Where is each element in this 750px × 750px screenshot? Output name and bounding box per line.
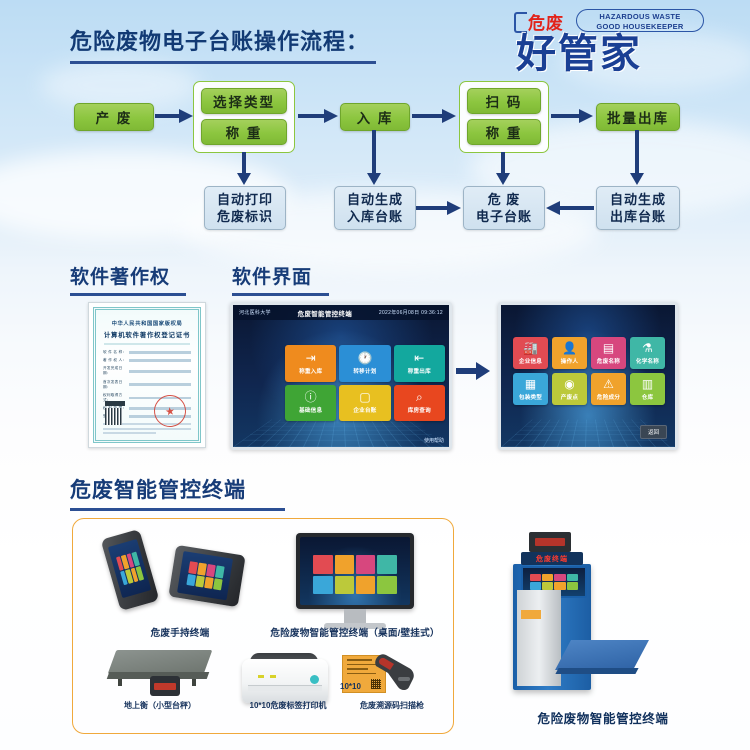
plate-top <box>555 640 649 670</box>
flow-arrow-down <box>367 130 381 185</box>
section-heading-terminal: 危废智能管控终端 <box>70 474 285 511</box>
tile-label: 危废名称 <box>597 357 620 365</box>
kiosk-terminal-device: 危废终端 <box>495 528 615 698</box>
kiosk-indicator-display <box>535 538 565 546</box>
flow-arrow-down <box>630 130 644 185</box>
logo-red-text: 危废 <box>528 9 564 34</box>
flow-node-weigh-2[interactable]: 称 重 <box>467 119 541 145</box>
certificate-field-row: 首次发表日期： <box>103 380 191 390</box>
logo-top-row: 危废 HAZARDOUS WASTE GOOD HOUSEKEEPER <box>506 8 706 34</box>
caption-scale: 地上衡（小型台秤） <box>104 700 216 711</box>
barcode-scanner-icon <box>372 651 426 691</box>
tile-label: 企业台账 <box>353 406 376 414</box>
scale-platform <box>108 650 213 674</box>
tablet-screen <box>177 551 233 600</box>
scale-body <box>106 650 214 694</box>
divider <box>104 343 190 345</box>
monitor-tile-grid <box>313 555 397 594</box>
logo-main-text: 好管家 <box>516 32 642 76</box>
flow-node-scan-code[interactable]: 扫 码 <box>467 88 541 114</box>
certificate-field-row: 著 作 权 人： <box>103 358 191 363</box>
caption-scanner: 危废溯源码扫描枪 <box>340 700 444 711</box>
screen-main-tile-grid: ⇥称重入库 🕐转移计划 ⇤称重出库 ⓘ基础信息 ▢企业台账 ⌕库房查询 <box>285 345 445 421</box>
flow-node-auto-print-line2: 危废标识 <box>217 208 273 225</box>
floor-scale-device <box>106 650 214 694</box>
bracket-icon <box>514 12 527 33</box>
certificate-field-row: 开发完成日期： <box>103 366 191 376</box>
tile-label: 包装类型 <box>519 393 542 401</box>
logo-en-line2: GOOD HOUSEKEEPER <box>577 22 703 32</box>
printer-power-button[interactable] <box>310 675 319 684</box>
box-icon: ▦ <box>525 378 536 391</box>
screen-org-name: 河北医科大学 <box>239 309 271 316</box>
tile-label: 库房查询 <box>408 406 431 414</box>
section-heading-copyright-text: 软件著作权 <box>70 267 170 288</box>
section-underline <box>70 508 285 511</box>
flow-node-auto-in-ledger-line2: 入库台账 <box>347 208 403 225</box>
tile-enterprise-ledger[interactable]: ▢企业台账 <box>339 385 390 422</box>
printer-led <box>258 675 264 678</box>
printer-paper-slot <box>248 685 322 691</box>
kiosk-indicator-head <box>529 532 571 552</box>
flow-node-auto-in-ledger[interactable]: 自动生成 入库台账 <box>334 186 416 230</box>
flow-node-produce[interactable]: 产 废 <box>74 103 154 131</box>
flow-arrow-right <box>155 108 193 124</box>
field-label: 开发完成日期： <box>103 366 129 376</box>
certificate-inner: 中华人民共和国国家版权局 计算机软件著作权登记证书 软 件 名 称： 著 作 权… <box>93 307 201 443</box>
kiosk-print-tray <box>521 610 541 619</box>
field-value <box>129 383 191 385</box>
software-screen-secondary[interactable]: 🏭企业信息 👤操作人 ▤危废名称 ⚗化学名称 ▦包装类型 ◉产废点 ⚠危险成分 … <box>498 302 678 450</box>
tablet-body <box>168 545 245 607</box>
printer-led <box>270 675 276 678</box>
screen-secondary-tile-grid: 🏭企业信息 👤操作人 ▤危废名称 ⚗化学名称 ▦包装类型 ◉产废点 ⚠危险成分 … <box>513 337 665 405</box>
scale-indicator <box>150 676 180 696</box>
search-icon: ⌕ <box>416 391 423 404</box>
printer-body-group <box>242 645 328 705</box>
caption-handheld: 危废手持终端 <box>120 625 240 639</box>
tile-waste-point[interactable]: ◉产废点 <box>552 373 587 405</box>
tile-label: 企业信息 <box>519 357 542 365</box>
handheld-pda-device <box>110 533 150 607</box>
flow-arrow-right <box>298 108 338 124</box>
caption-kiosk: 危险废物智能管控终端 <box>488 708 718 727</box>
handheld-tablet-device <box>172 550 242 602</box>
tile-warehouse[interactable]: ▥仓库 <box>630 373 665 405</box>
flow-node-auto-out-ledger-line2: 出库台账 <box>610 208 666 225</box>
tile-chemical-name[interactable]: ⚗化学名称 <box>630 337 665 369</box>
flow-node-auto-print[interactable]: 自动打印 危废标识 <box>204 186 286 230</box>
clock-icon: 🕐 <box>358 352 373 365</box>
warehouse-icon: ▥ <box>642 378 653 391</box>
barcode-icon <box>105 401 125 406</box>
scale-leg <box>192 679 196 686</box>
tile-basic-info[interactable]: ⓘ基础信息 <box>285 385 336 422</box>
pda-screen <box>108 539 151 598</box>
card-icon: ▤ <box>603 342 614 355</box>
kiosk-led-sign: 危废终端 <box>521 552 583 565</box>
flow-node-storage-in[interactable]: 入 库 <box>340 103 410 131</box>
tile-waste-name[interactable]: ▤危废名称 <box>591 337 626 369</box>
warning-icon: ⚠ <box>603 378 614 391</box>
flow-node-auto-out-ledger-line1: 自动生成 <box>610 191 666 208</box>
back-button[interactable]: 返回 <box>640 425 667 439</box>
kiosk-weighing-plate <box>563 640 649 686</box>
flow-node-e-ledger-line1: 危 废 <box>488 191 521 208</box>
field-value <box>129 370 191 372</box>
flow-node-batch-out[interactable]: 批量出库 <box>596 103 680 131</box>
certificate-title-line1: 中华人民共和国国家版权局 <box>96 319 198 327</box>
flow-arrow-down <box>237 152 251 185</box>
tile-weigh-in[interactable]: ⇥称重入库 <box>285 345 336 382</box>
tile-operator[interactable]: 👤操作人 <box>552 337 587 369</box>
tile-label: 操作人 <box>561 357 578 365</box>
tile-label: 化学名称 <box>636 357 659 365</box>
flow-arrow-left <box>546 200 594 216</box>
field-value <box>129 351 191 353</box>
field-label: 首次发表日期： <box>103 380 129 390</box>
process-flow-diagram: 产 废 选择类型 称 重 入 库 扫 码 称 重 批量出库 自动打印 危废标识 … <box>0 78 750 243</box>
flow-arrow-right <box>416 200 461 216</box>
section-heading-copyright: 软件著作权 <box>70 262 186 296</box>
section-heading-software-ui: 软件界面 <box>232 262 329 296</box>
tile-label: 仓库 <box>642 393 654 401</box>
monitor-frame <box>296 533 414 609</box>
qr-code-icon <box>105 408 122 425</box>
tile-hazard-component[interactable]: ⚠危险成分 <box>591 373 626 405</box>
section-underline <box>70 293 186 296</box>
certificate-field-row: 软 件 名 称： <box>103 350 191 355</box>
flow-node-e-ledger[interactable]: 危 废 电子台账 <box>463 186 545 230</box>
inbound-icon: ⇥ <box>306 352 316 365</box>
tile-transfer-plan[interactable]: 🕐转移计划 <box>339 345 390 382</box>
tile-package-type[interactable]: ▦包装类型 <box>513 373 548 405</box>
factory-icon: 🏭 <box>523 342 538 355</box>
kiosk-tile-grid <box>530 574 578 591</box>
indicator-display <box>154 683 176 690</box>
logo-english-badge: HAZARDOUS WASTE GOOD HOUSEKEEPER <box>576 9 704 32</box>
software-copyright-certificate[interactable]: 中华人民共和国国家版权局 计算机软件著作权登记证书 软 件 名 称： 著 作 权… <box>88 302 206 448</box>
logo-en-line1: HAZARDOUS WASTE <box>577 12 703 22</box>
field-label: 著 作 权 人： <box>103 358 129 363</box>
field-label: 软 件 名 称： <box>103 350 129 355</box>
pda-tile-grid <box>115 552 143 586</box>
ledger-icon: ▢ <box>359 391 370 404</box>
desktop-monitor-device <box>296 533 414 629</box>
label-printer-device <box>242 645 328 705</box>
screen-top-bar: 河北医科大学 危废智能管控终端 2022年06月08日 09:36:12 <box>233 305 449 320</box>
tile-warehouse-query[interactable]: ⌕库房查询 <box>394 385 445 422</box>
caption-printer: 10*10危废标签打印机 <box>230 700 346 711</box>
flow-node-e-ledger-line2: 电子台账 <box>476 208 532 225</box>
tile-label: 产废点 <box>561 393 578 401</box>
tile-label: 危险成分 <box>597 393 620 401</box>
person-icon: 👤 <box>562 342 577 355</box>
tile-label: 称重出库 <box>408 367 431 375</box>
monitor-screen <box>300 537 410 605</box>
caption-monitor: 危险废物智能管控终端（桌面/壁挂式） <box>252 625 458 639</box>
section-underline <box>232 293 329 296</box>
outbound-icon: ⇤ <box>414 352 424 365</box>
label-size-text: 10*10 <box>340 682 380 691</box>
section-heading-software-ui-text: 软件界面 <box>232 267 312 288</box>
monitor-neck <box>344 609 366 623</box>
page-title-underline <box>70 61 376 64</box>
flow-arrow-right <box>551 108 593 124</box>
tile-label: 称重入库 <box>299 367 322 375</box>
certificate-title-line2: 计算机软件著作权登记证书 <box>96 330 198 339</box>
field-value <box>129 359 191 361</box>
flask-icon: ⚗ <box>642 342 653 355</box>
page-title: 危险废物电子台账操作流程： <box>70 24 376 64</box>
flow-node-auto-print-line1: 自动打印 <box>217 191 273 208</box>
plate-side <box>555 668 638 674</box>
screen-datetime: 2022年06月08日 09:36:12 <box>379 309 443 316</box>
flow-node-auto-in-ledger-line1: 自动生成 <box>347 191 403 208</box>
flow-arrow-right <box>412 108 456 124</box>
brand-logo: 危废 HAZARDOUS WASTE GOOD HOUSEKEEPER 好管家 <box>506 8 706 80</box>
screen-title: 危废智能管控终端 <box>298 308 352 318</box>
software-screen-main[interactable]: 河北医科大学 危废智能管控终端 2022年06月08日 09:36:12 ⇥称重… <box>230 302 452 450</box>
location-icon: ◉ <box>564 378 574 391</box>
scale-leg <box>118 679 122 686</box>
flow-node-select-type[interactable]: 选择类型 <box>201 88 287 114</box>
info-icon: ⓘ <box>305 391 317 404</box>
flow-arrow-down <box>496 152 510 185</box>
transition-arrow <box>456 362 490 385</box>
tablet-tile-grid <box>186 562 224 590</box>
tile-label: 转移计划 <box>353 367 376 375</box>
section-heading-terminal-text: 危废智能管控终端 <box>70 479 246 502</box>
flow-node-auto-out-ledger[interactable]: 自动生成 出库台账 <box>596 186 680 230</box>
screen-help-link[interactable]: 使用帮助 <box>424 437 444 444</box>
tile-label: 基础信息 <box>299 406 322 414</box>
page-title-text: 危险废物电子台账操作流程： <box>70 29 369 54</box>
kiosk-cabinet-door <box>517 590 561 686</box>
tile-weigh-out[interactable]: ⇤称重出库 <box>394 345 445 382</box>
tile-enterprise-info[interactable]: 🏭企业信息 <box>513 337 548 369</box>
flow-node-weigh-1[interactable]: 称 重 <box>201 119 287 145</box>
